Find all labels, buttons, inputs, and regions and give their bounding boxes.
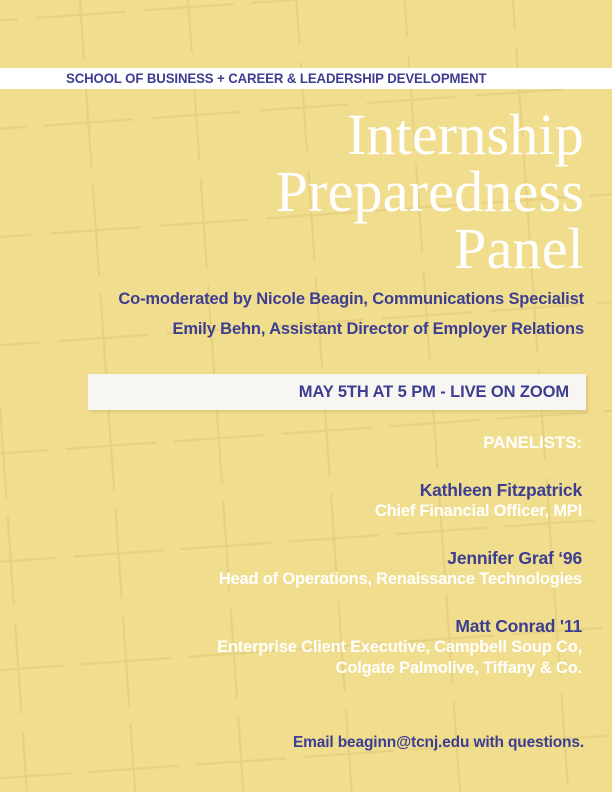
panelist-entry: Kathleen Fitzpatrick Chief Financial Off… — [22, 479, 582, 522]
panelist-entry: Jennifer Graf ‘96 Head of Operations, Re… — [22, 547, 582, 590]
department-label: SCHOOL OF BUSINESS + CAREER & LEADERSHIP… — [66, 71, 487, 86]
moderators-block: Co-moderated by Nicole Beagin, Communica… — [24, 284, 584, 344]
page-title: Internship Preparedness Panel — [24, 106, 584, 277]
contact-line: Email beaginn@tcnj.edu with questions. — [24, 734, 584, 752]
panelist-name: Kathleen Fitzpatrick — [22, 479, 582, 501]
title-line-2: Preparedness — [24, 163, 584, 220]
panelist-name: Matt Conrad '11 — [22, 615, 582, 637]
panelist-name: Jennifer Graf ‘96 — [22, 547, 582, 569]
moderator-line-1: Co-moderated by Nicole Beagin, Communica… — [24, 284, 584, 314]
event-datetime-banner: MAY 5TH AT 5 PM - LIVE ON ZOOM — [88, 374, 586, 410]
panelist-role: Chief Financial Officer, MPI — [22, 501, 582, 522]
panelist-role: Head of Operations, Renaissance Technolo… — [22, 569, 582, 590]
panelist-entry: Matt Conrad '11 Enterprise Client Execut… — [22, 615, 582, 679]
event-datetime-label: MAY 5TH AT 5 PM - LIVE ON ZOOM — [299, 383, 569, 402]
panelist-role: Colgate Palmolive, Tiffany & Co. — [22, 658, 582, 679]
title-line-1: Internship — [24, 106, 584, 163]
title-line-3: Panel — [24, 220, 584, 277]
panelists-section: PANELISTS: Kathleen Fitzpatrick Chief Fi… — [22, 432, 582, 679]
department-banner: SCHOOL OF BUSINESS + CAREER & LEADERSHIP… — [0, 68, 612, 89]
panelists-heading: PANELISTS: — [22, 432, 582, 454]
poster-canvas: SCHOOL OF BUSINESS + CAREER & LEADERSHIP… — [0, 0, 612, 792]
moderator-line-2: Emily Behn, Assistant Director of Employ… — [24, 314, 584, 344]
panelist-role: Enterprise Client Executive, Campbell So… — [22, 637, 582, 658]
